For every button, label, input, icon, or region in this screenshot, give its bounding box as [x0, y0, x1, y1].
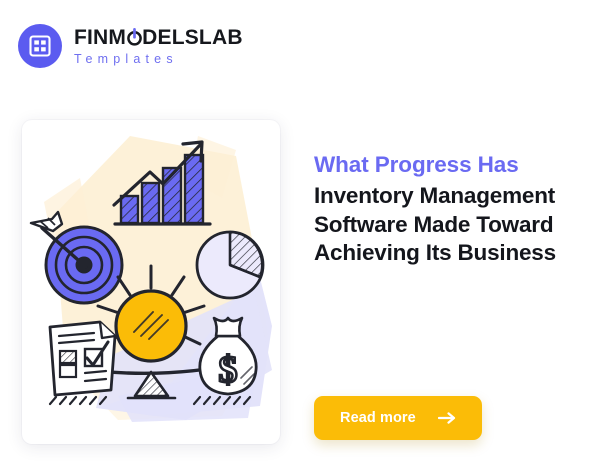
illustration-card: $ [22, 120, 280, 444]
brand-name-part1: FINM [74, 27, 126, 48]
page-title: Inventory Management Software Made Towar… [314, 182, 582, 267]
brand-logo[interactable]: FINM DELSLAB Templates [18, 24, 243, 68]
brand-text: FINM DELSLAB Templates [74, 27, 243, 66]
content-column: What Progress Has Inventory Management S… [314, 152, 582, 267]
checklist-document-icon [50, 322, 115, 395]
brand-name: FINM DELSLAB [74, 27, 243, 48]
cta-container: Read more [314, 396, 482, 440]
power-icon [126, 27, 142, 47]
promo-card: FINM DELSLAB Templates [0, 0, 600, 464]
idea-coin-icon [116, 291, 186, 361]
read-more-button[interactable]: Read more [314, 396, 482, 440]
business-balance-illustration: $ [22, 120, 280, 444]
svg-text:$: $ [219, 349, 238, 391]
arrow-right-icon [438, 412, 456, 424]
brand-tagline: Templates [74, 53, 243, 66]
read-more-label: Read more [340, 410, 416, 426]
brand-name-part2: DELSLAB [142, 27, 243, 48]
grid-squares-icon [18, 24, 62, 68]
pie-chart-icon [197, 232, 263, 298]
eyebrow-text: What Progress Has [314, 152, 582, 177]
